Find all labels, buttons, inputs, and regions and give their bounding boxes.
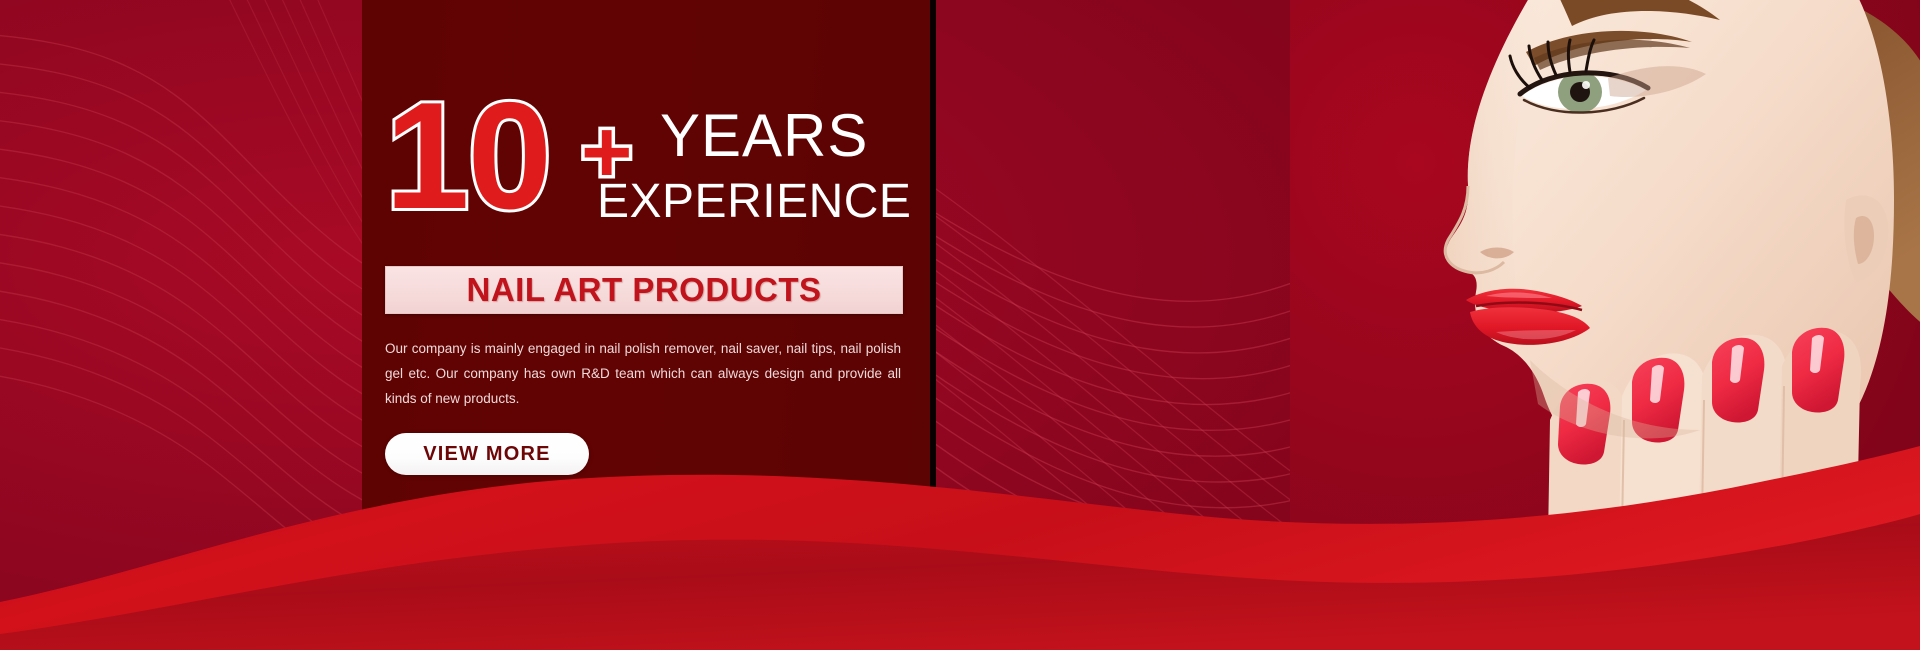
view-more-label: VIEW MORE	[423, 443, 550, 466]
headline-group: 10 + YEARS EXPERIENCE	[385, 96, 925, 246]
product-category-label: NAIL ART PRODUCTS	[467, 271, 822, 309]
banner-content: 10 + YEARS EXPERIENCE NAIL ART PRODUCTS …	[385, 96, 925, 475]
years-number: 10	[385, 80, 550, 232]
experience-label: EXPERIENCE	[597, 178, 911, 226]
view-more-button[interactable]: VIEW MORE	[385, 433, 589, 475]
promo-banner: 10 + YEARS EXPERIENCE NAIL ART PRODUCTS …	[0, 0, 1920, 650]
bottom-wave-shape	[0, 420, 1920, 650]
company-description: Our company is mainly engaged in nail po…	[385, 336, 901, 411]
product-category-bar: NAIL ART PRODUCTS	[385, 266, 903, 314]
years-label: YEARS	[660, 106, 868, 166]
